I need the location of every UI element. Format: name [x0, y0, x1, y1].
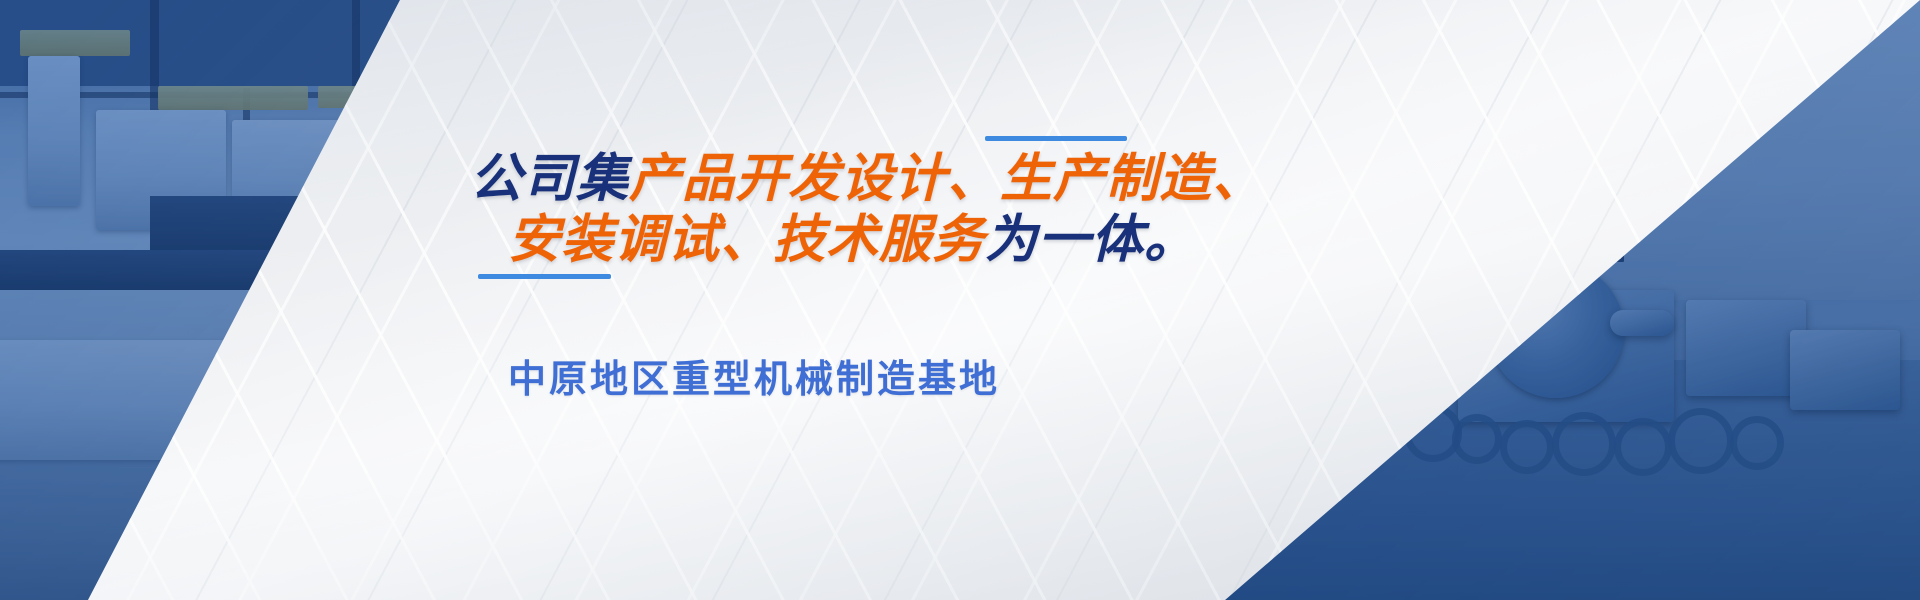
hero-banner: 公司集产品开发设计、生产制造、 安装调试、技术服务为一体。 中原地区重型机械制造… — [0, 0, 1920, 600]
accent-rule-top — [985, 136, 1127, 141]
headline-line-1: 公司集产品开发设计、生产制造、 — [470, 153, 1265, 205]
headline-line-2-navy: 为一体。 — [985, 210, 1197, 270]
headline-line-2: 安装调试、技术服务为一体。 — [508, 214, 1197, 266]
banner-subtitle: 中原地区重型机械制造基地 — [508, 348, 1000, 403]
headline-line-1-orange: 产品开发设计、生产制造、 — [629, 149, 1265, 209]
accent-rule-bottom — [478, 274, 611, 279]
headline-line-1-navy: 公司集 — [470, 149, 629, 209]
banner-text-block: 公司集产品开发设计、生产制造、 安装调试、技术服务为一体。 中原地区重型机械制造… — [0, 0, 1560, 600]
headline-line-2-orange: 安装调试、技术服务 — [508, 210, 985, 270]
